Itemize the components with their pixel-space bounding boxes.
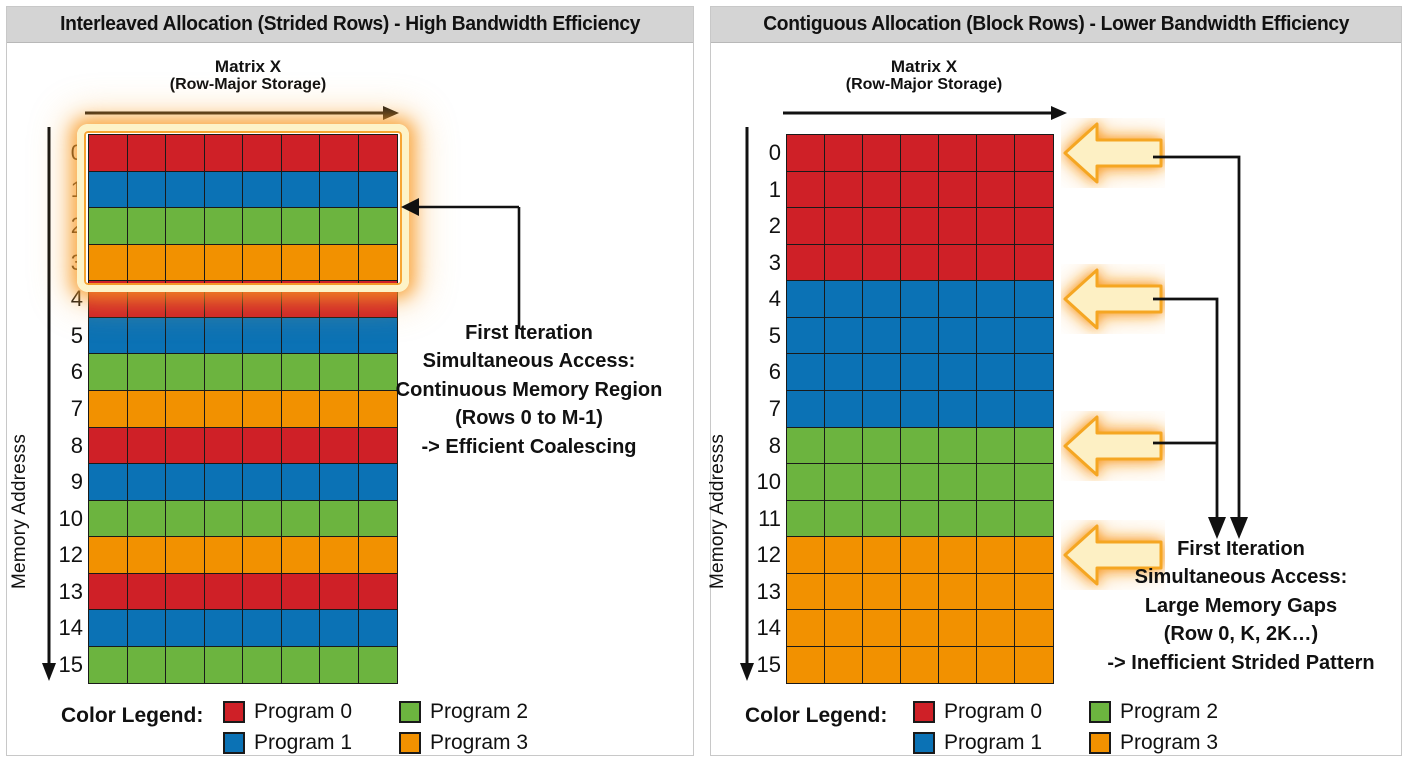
left-legend: Color Legend: Program 0Program 1Program … [7,7,693,755]
legend-item: Program 3 [1089,731,1218,755]
legend-label: Program 2 [1120,700,1218,724]
legend-swatch [223,701,245,723]
panel-interleaved-allocation: Interleaved Allocation (Strided Rows) - … [6,6,694,756]
legend-label: Program 1 [254,731,352,755]
panel-contiguous-allocation: Contiguous Allocation (Block Rows) - Low… [710,6,1402,756]
diagram-canvas: Interleaved Allocation (Strided Rows) - … [0,0,1408,768]
legend-label: Program 0 [254,700,352,724]
legend-item: Program 3 [399,731,528,755]
legend-item: Program 2 [1089,700,1218,724]
legend-swatch [1089,732,1111,754]
legend-item: Program 2 [399,700,528,724]
legend-swatch [913,732,935,754]
legend-item: Program 0 [223,700,352,724]
legend-label: Program 2 [430,700,528,724]
legend-swatch [913,701,935,723]
legend-label: Program 0 [944,700,1042,724]
left-legend-title: Color Legend: [61,704,203,728]
legend-swatch [223,732,245,754]
right-legend-title: Color Legend: [745,704,887,728]
legend-label: Program 3 [430,731,528,755]
right-legend: Color Legend: Program 0Program 1Program … [711,7,1401,755]
legend-label: Program 3 [1120,731,1218,755]
legend-item: Program 0 [913,700,1042,724]
legend-label: Program 1 [944,731,1042,755]
legend-swatch [399,732,421,754]
legend-swatch [399,701,421,723]
legend-swatch [1089,701,1111,723]
legend-item: Program 1 [223,731,352,755]
legend-item: Program 1 [913,731,1042,755]
